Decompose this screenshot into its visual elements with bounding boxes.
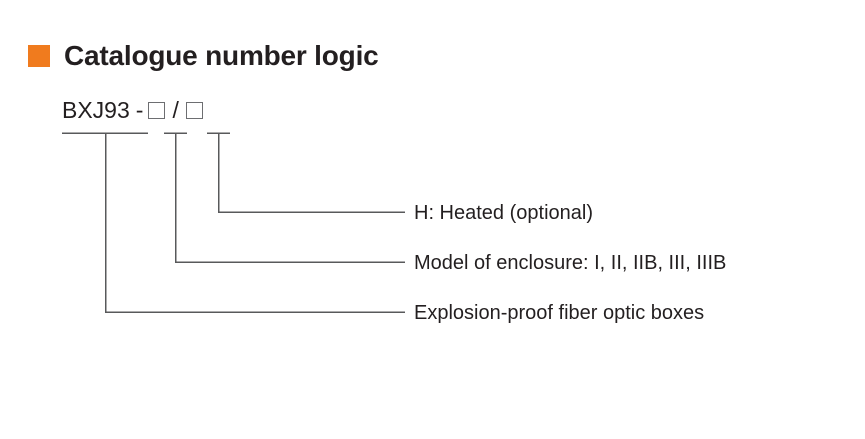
leader-line-heated (219, 133, 406, 212)
orange-square-bullet-icon (28, 45, 50, 67)
callout-label-product-family: Explosion-proof fiber optic boxes (414, 303, 704, 323)
code-slot-heated-option (186, 102, 203, 119)
code-slash-separator: / (165, 99, 185, 122)
callout-label-heated: H: Heated (optional) (414, 203, 593, 223)
code-base-text: BXJ93 (62, 99, 130, 122)
catalogue-number-logic-diagram: Catalogue number logic BXJ93 - / H: Heat… (0, 0, 865, 439)
leader-line-enclosure-model (176, 133, 406, 262)
section-heading: Catalogue number logic (28, 42, 379, 70)
code-dash-separator: - (130, 99, 149, 122)
leader-line-product-family (106, 133, 406, 312)
catalogue-code: BXJ93 - / (62, 99, 203, 122)
code-slot-enclosure-model (148, 102, 165, 119)
page-title: Catalogue number logic (64, 42, 379, 70)
callout-label-enclosure-model: Model of enclosure: I, II, IIB, III, III… (414, 253, 726, 273)
